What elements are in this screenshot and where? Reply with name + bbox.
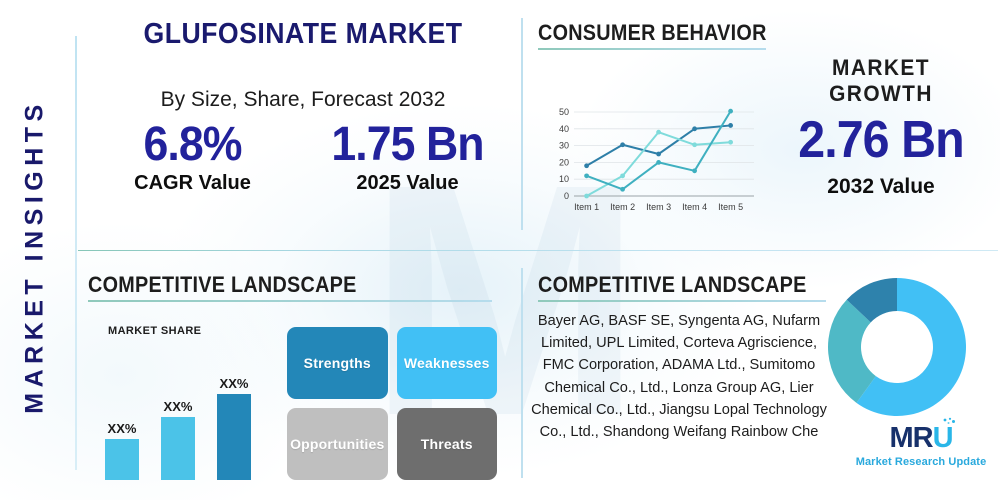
- kpi-cagr-label: CAGR Value: [85, 172, 300, 195]
- line-chart-svg: 01020304050Item 1Item 2Item 3Item 4Item …: [548, 104, 762, 220]
- bar-value-label: XX%: [217, 376, 251, 391]
- kpi-2025-label: 2025 Value: [300, 172, 515, 195]
- market-growth-label: 2032 Value: [772, 175, 990, 199]
- competitive-landscape-left-rule: [88, 300, 492, 302]
- svg-text:0: 0: [564, 191, 569, 201]
- kpi-2025: 1.75 Bn 2025 Value: [300, 120, 515, 195]
- market-insights-rail: MARKET INSIGHTS: [6, 52, 60, 472]
- svg-text:10: 10: [559, 174, 569, 184]
- bar-item: XX%: [105, 421, 139, 480]
- rail-label: MARKET INSIGHTS: [21, 62, 50, 452]
- competitive-landscape-right-rule: [538, 300, 826, 302]
- logo-wordmark: MRU: [889, 424, 952, 453]
- logo-tagline: Market Research Update: [846, 456, 996, 468]
- horizontal-divider: [78, 250, 998, 251]
- logo-sparkle-icon: [942, 417, 956, 429]
- swot-box-opportunities[interactable]: Opportunities: [287, 408, 388, 480]
- swot-box-weaknesses[interactable]: Weaknesses: [397, 327, 498, 399]
- consumer-behavior-line-chart: 01020304050Item 1Item 2Item 3Item 4Item …: [548, 104, 762, 220]
- market-share-bar-chart: XX%XX%XX%: [105, 340, 270, 480]
- svg-text:Item 3: Item 3: [646, 202, 671, 212]
- svg-text:30: 30: [559, 141, 569, 151]
- market-share-donut-chart: [826, 276, 968, 418]
- svg-text:50: 50: [559, 107, 569, 117]
- svg-text:Item 4: Item 4: [682, 202, 707, 212]
- bar-item: XX%: [161, 399, 195, 480]
- svg-text:20: 20: [559, 157, 569, 167]
- page-title: GLUFOSINATE MARKET: [114, 18, 491, 51]
- logo-mark: MR: [889, 422, 932, 454]
- swot-grid: StrengthsWeaknessesOpportunitiesThreats: [287, 327, 497, 480]
- bar-item: XX%: [217, 376, 251, 480]
- svg-text:Item 2: Item 2: [610, 202, 635, 212]
- infographic-canvas: M MARKET INSIGHTS GLUFOSINATE MARKET By …: [0, 0, 1000, 500]
- kpi-cagr-value: 6.8%: [93, 120, 293, 170]
- bar: [217, 394, 251, 480]
- consumer-behavior-rule: [538, 48, 766, 50]
- rail-divider: [75, 36, 77, 470]
- kpi-2025-value: 1.75 Bn: [308, 120, 508, 170]
- bar-value-label: XX%: [161, 399, 195, 414]
- mru-logo: MRU Market Research Update: [846, 424, 996, 468]
- svg-text:40: 40: [559, 124, 569, 134]
- svg-text:Item 5: Item 5: [718, 202, 743, 212]
- market-growth-heading: MARKET GROWTH: [777, 55, 984, 107]
- page-subtitle: By Size, Share, Forecast 2032: [98, 88, 508, 112]
- donut-svg: [826, 276, 968, 418]
- competitive-landscape-left-heading: COMPETITIVE LANDSCAPE: [88, 272, 357, 298]
- consumer-behavior-heading: CONSUMER BEHAVIOR: [538, 20, 767, 46]
- competitive-landscape-right-heading: COMPETITIVE LANDSCAPE: [538, 272, 807, 298]
- swot-box-strengths[interactable]: Strengths: [287, 327, 388, 399]
- bar: [161, 417, 195, 480]
- vertical-divider-bottom: [521, 268, 523, 478]
- svg-text:Item 1: Item 1: [574, 202, 599, 212]
- bar: [105, 439, 139, 480]
- market-share-label: MARKET SHARE: [108, 325, 201, 337]
- bar-value-label: XX%: [105, 421, 139, 436]
- market-growth-value: 2.76 Bn: [780, 110, 983, 170]
- kpi-cagr: 6.8% CAGR Value: [85, 120, 300, 195]
- swot-box-threats[interactable]: Threats: [397, 408, 498, 480]
- company-list: Bayer AG, BASF SE, Syngenta AG, Nufarm L…: [529, 310, 829, 443]
- vertical-divider-top: [521, 18, 523, 230]
- kpi-row: 6.8% CAGR Value 1.75 Bn 2025 Value: [85, 120, 515, 195]
